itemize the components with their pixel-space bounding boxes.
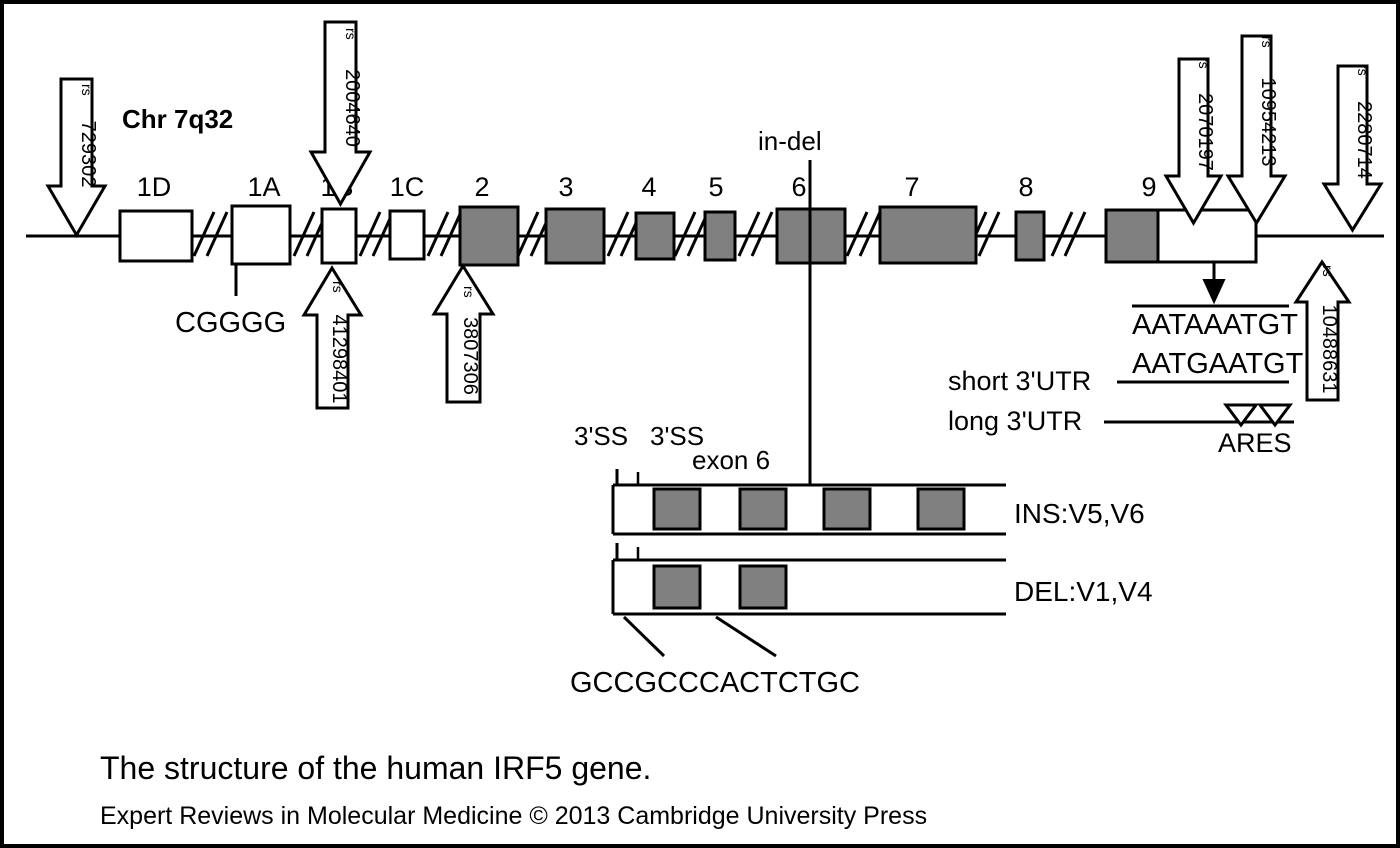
indel-sequence-label: GCCGCCCACTCTGC [570, 667, 860, 699]
snp-arrow-rs729302: 729302 rs [48, 79, 105, 235]
snp-arrow-rs10488631: 10488631 rs [1296, 262, 1349, 400]
exon-label-2: 2 [474, 172, 489, 202]
snp-arrow-rs10954213: 10954213 rs [1228, 36, 1285, 223]
exon-box-4 [636, 213, 674, 259]
exon-box-2 [460, 207, 518, 265]
snp-arrow-rs729302-label: 729302 [77, 121, 99, 188]
exon6-detail-panel: 3'SS 3'SS exon 6 INS:V5,V6 [570, 421, 1153, 699]
exon-label-9: 9 [1141, 172, 1156, 202]
snp-arrow-rs10954213-prefix: rs [1259, 36, 1275, 48]
exon-label-5: 5 [708, 172, 723, 202]
indel-label: in-del [758, 126, 822, 156]
gene-diagram-svg: 1D 1A 1B 1C 2 3 4 5 6 7 8 9 Chr 7q32 729… [4, 4, 1400, 848]
snp-arrow-rs729302-prefix: rs [79, 84, 95, 96]
ares-label: ARES [1218, 428, 1292, 458]
exon-box-1B [322, 209, 356, 263]
exon-box-7 [880, 207, 976, 263]
isoform-del-bar [613, 543, 1006, 614]
exon-box-9-utr [1158, 210, 1256, 262]
snp-arrow-rs2070197-prefix: rs [1196, 57, 1212, 69]
snp-arrow-rs2070197: 2070197 rs [1166, 57, 1221, 223]
exon-label-1A: 1A [247, 172, 280, 202]
exon-label-6: 6 [791, 172, 806, 202]
snp-arrow-rs2280714: 2280714 rs [1324, 64, 1381, 230]
cgggg-label: CGGGG [175, 307, 286, 339]
polya-signal-2: AATGAATGT [1132, 348, 1304, 380]
snp-arrow-rs2004640-label: 2004640 [341, 69, 363, 147]
exon6-panel-label: exon 6 [692, 445, 770, 475]
snp-arrow-rs3807306-label: 3807306 [459, 317, 481, 395]
exon-box-9-coding [1106, 210, 1158, 262]
exon-label-3: 3 [558, 172, 573, 202]
cgggg-annotation: CGGGG [175, 264, 286, 339]
snp-arrow-rs2004640-prefix: rs [343, 28, 359, 40]
long-utr-label: long 3'UTR [948, 406, 1082, 436]
polya-signal-1: AATAAATGT [1132, 309, 1298, 341]
irf5-gene-structure-figure: 1D 1A 1B 1C 2 3 4 5 6 7 8 9 Chr 7q32 729… [0, 0, 1400, 848]
snp-arrow-rs3807306: 3807306 rs [434, 266, 493, 402]
exon-box-5 [705, 212, 735, 260]
exon-box-3 [546, 209, 604, 263]
snp-arrow-rs2280714-label: 2280714 [1353, 101, 1375, 179]
snp-arrow-rs41298401-label: 41298401 [328, 315, 350, 404]
short-utr-label: short 3'UTR [948, 366, 1091, 396]
exon-label-1C: 1C [390, 172, 425, 202]
chromosome-label: Chr 7q32 [122, 104, 233, 134]
snp-arrow-rs10954213-label: 10954213 [1257, 78, 1279, 167]
exon-number-labels: 1D 1A 1B 1C 2 3 4 5 6 7 8 9 [137, 172, 1157, 202]
snp-arrow-rs3807306-prefix: rs [461, 286, 477, 298]
snp-arrow-rs2280714-prefix: rs [1355, 64, 1371, 76]
snp-arrow-rs41298401: 41298401 rs [304, 268, 361, 408]
utr-annotation-group: AATAAATGT AATGAATGT short 3'UTR long 3'U… [948, 263, 1304, 458]
snp-arrow-rs10488631-prefix: rs [1320, 265, 1336, 277]
isoform-ins-label: INS:V5,V6 [1014, 498, 1145, 529]
exon-label-7: 7 [904, 172, 919, 202]
ss-label-1: 3'SS [574, 421, 628, 451]
exon-label-1D: 1D [137, 172, 172, 202]
snp-arrow-rs2070197-label: 2070197 [1194, 93, 1216, 171]
snp-arrow-rs41298401-prefix: rs [330, 281, 346, 293]
caption-title: The structure of the human IRF5 gene. [100, 750, 651, 786]
exon-box-8 [1016, 212, 1044, 260]
exon-box-1A [232, 206, 290, 264]
indel-callout: in-del [758, 126, 822, 484]
exon-box-1D [120, 211, 192, 261]
isoform-del-label: DEL:V1,V4 [1014, 576, 1153, 607]
caption-credit: Expert Reviews in Molecular Medicine © 2… [100, 802, 927, 830]
exon-label-4: 4 [641, 172, 656, 202]
exon-label-8: 8 [1018, 172, 1033, 202]
exon-box-1C [390, 211, 424, 259]
snp-arrow-rs10488631-label: 10488631 [1318, 305, 1340, 394]
